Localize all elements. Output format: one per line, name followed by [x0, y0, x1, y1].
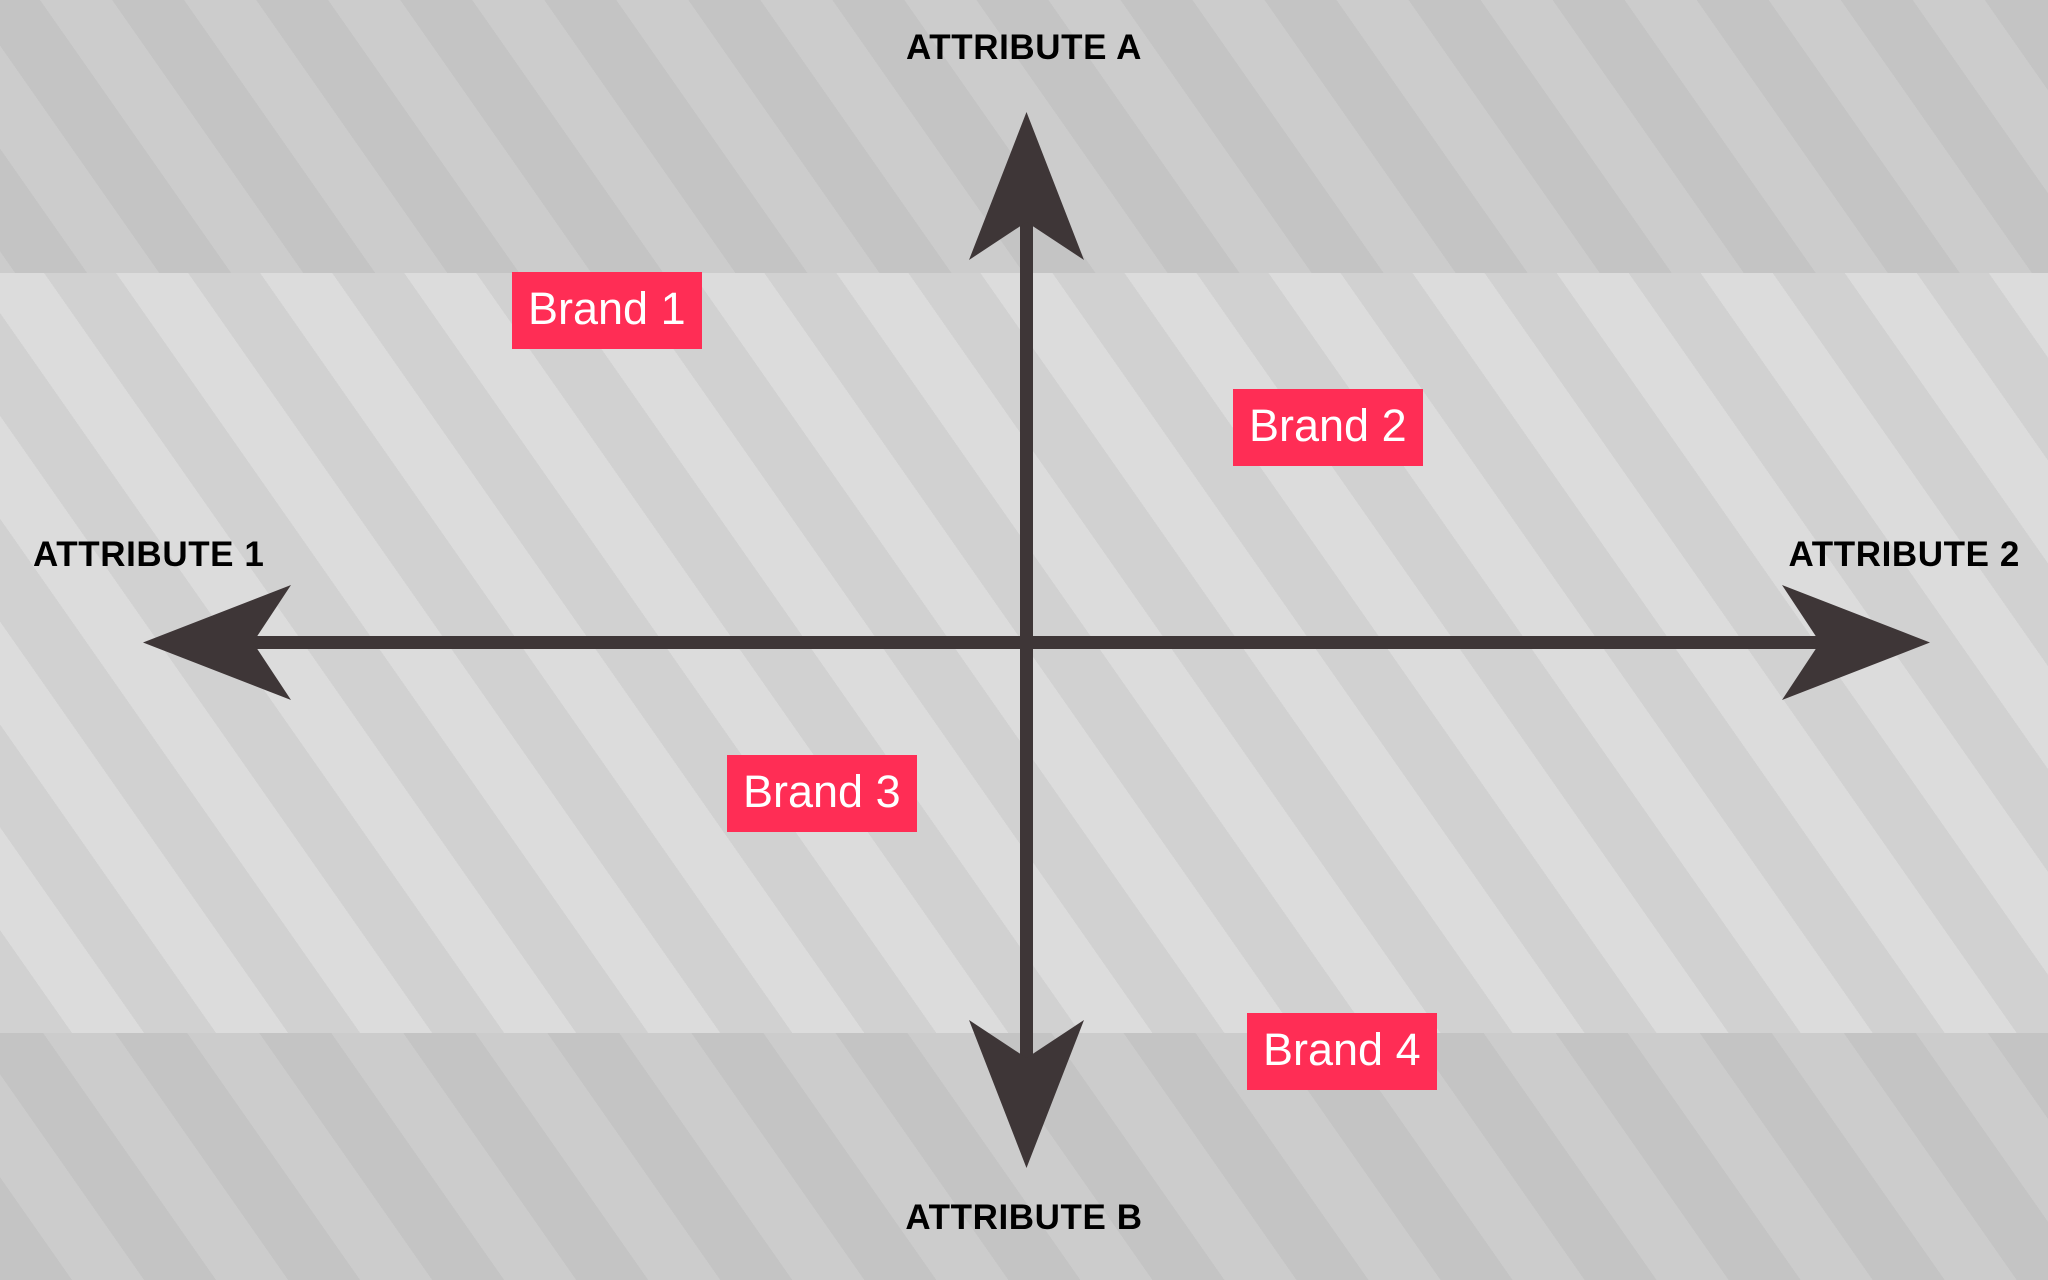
background-stripes-band	[0, 273, 2048, 1033]
axis-label-bottom: ATTRIBUTE B	[905, 1198, 1142, 1238]
axis-label-top: ATTRIBUTE A	[906, 28, 1142, 68]
axis-label-right: ATTRIBUTE 2	[1788, 535, 2020, 575]
brand-marker[interactable]: Brand 3	[727, 755, 917, 832]
brand-marker[interactable]: Brand 4	[1247, 1013, 1437, 1090]
brand-marker[interactable]: Brand 2	[1233, 389, 1423, 466]
axis-label-left: ATTRIBUTE 1	[33, 535, 265, 575]
brand-marker[interactable]: Brand 1	[512, 272, 702, 349]
perceptual-map-canvas: ATTRIBUTE A ATTRIBUTE B ATTRIBUTE 1 ATTR…	[0, 0, 2048, 1280]
